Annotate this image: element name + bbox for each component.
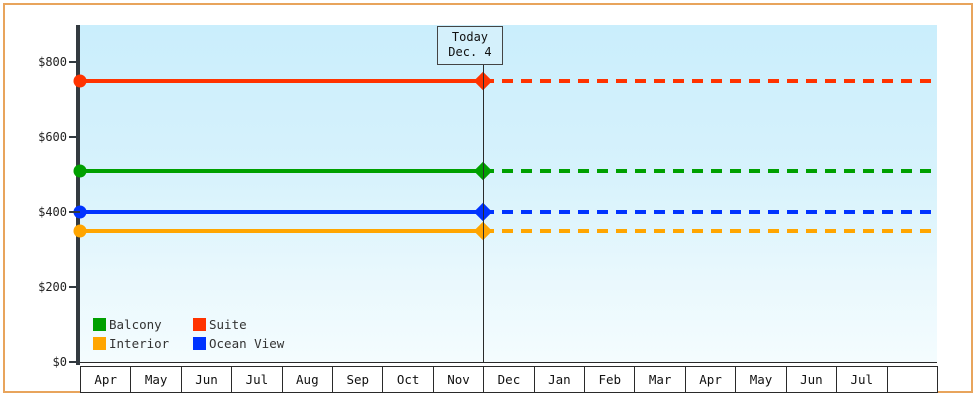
legend-item-balcony[interactable]: Balcony (93, 318, 193, 331)
today-annotation-box: Today Dec. 4 (437, 26, 502, 65)
x-axis-month-empty[interactable] (888, 366, 938, 393)
y-axis-labels: $0$200$400$600$800 (5, 5, 67, 385)
x-axis-month-jun-2[interactable]: Jun (182, 366, 232, 393)
x-axis-month-sep-5[interactable]: Sep (333, 366, 383, 393)
series-line-forecast-suite (483, 79, 937, 83)
legend-item-ocean-view[interactable]: Ocean View (193, 337, 293, 350)
series-marker-suite (74, 75, 87, 88)
y-axis-tick-label: $0 (53, 355, 67, 369)
y-axis-tick-label: $200 (38, 280, 67, 294)
today-label: Today (448, 30, 491, 45)
y-axis-tick (69, 136, 80, 138)
y-axis-tick-label: $800 (38, 55, 67, 69)
chart-frame: $0$200$400$600$800 Today Dec. 4 BalconyS… (3, 3, 973, 393)
x-axis-month-may-13[interactable]: May (736, 366, 786, 393)
y-axis-tick (69, 61, 80, 63)
x-axis-month-dec-8[interactable]: Dec (484, 366, 534, 393)
y-axis-tick (69, 211, 80, 213)
x-axis-spine (76, 362, 937, 363)
y-axis-tick (69, 286, 80, 288)
x-axis-month-nov-7[interactable]: Nov (434, 366, 484, 393)
legend-swatch-icon (193, 337, 206, 350)
y-axis-tick (69, 361, 80, 363)
today-marker-line (483, 55, 484, 362)
legend-label: Suite (209, 318, 247, 331)
legend-swatch-icon (93, 337, 106, 350)
legend-item-suite[interactable]: Suite (193, 318, 293, 331)
x-axis-month-feb-10[interactable]: Feb (585, 366, 635, 393)
series-line-past-suite (80, 79, 483, 83)
x-axis-month-may-1[interactable]: May (131, 366, 181, 393)
legend-item-interior[interactable]: Interior (93, 337, 193, 350)
legend-swatch-icon (193, 318, 206, 331)
x-axis-month-mar-11[interactable]: Mar (635, 366, 685, 393)
x-axis-month-jun-14[interactable]: Jun (787, 366, 837, 393)
x-axis-month-jul-3[interactable]: Jul (232, 366, 282, 393)
x-axis-month-oct-6[interactable]: Oct (383, 366, 433, 393)
series-line-forecast-balcony (483, 169, 937, 173)
series-marker-interior (74, 224, 87, 237)
legend-label: Interior (109, 337, 169, 350)
legend-label: Balcony (109, 318, 162, 331)
y-axis-tick-label: $600 (38, 130, 67, 144)
x-axis-month-apr-12[interactable]: Apr (686, 366, 736, 393)
x-axis-month-apr-0[interactable]: Apr (81, 366, 131, 393)
series-line-past-interior (80, 229, 483, 233)
series-line-past-balcony (80, 169, 483, 173)
legend-label: Ocean View (209, 337, 284, 350)
x-axis-month-strip: AprMayJunJulAugSepOctNovDecJanFebMarAprM… (80, 366, 938, 393)
series-line-forecast-interior (483, 229, 937, 233)
x-axis-month-jan-9[interactable]: Jan (535, 366, 585, 393)
chart-legend: BalconySuiteInteriorOcean View (93, 315, 293, 353)
x-axis-month-jul-15[interactable]: Jul (837, 366, 887, 393)
today-date: Dec. 4 (448, 45, 491, 60)
legend-swatch-icon (93, 318, 106, 331)
plot-area (80, 25, 937, 362)
series-line-forecast-ocean-view (483, 210, 937, 214)
series-marker-balcony (74, 165, 87, 178)
x-axis-month-aug-4[interactable]: Aug (283, 366, 333, 393)
series-line-past-ocean-view (80, 210, 483, 214)
y-axis-tick-label: $400 (38, 205, 67, 219)
